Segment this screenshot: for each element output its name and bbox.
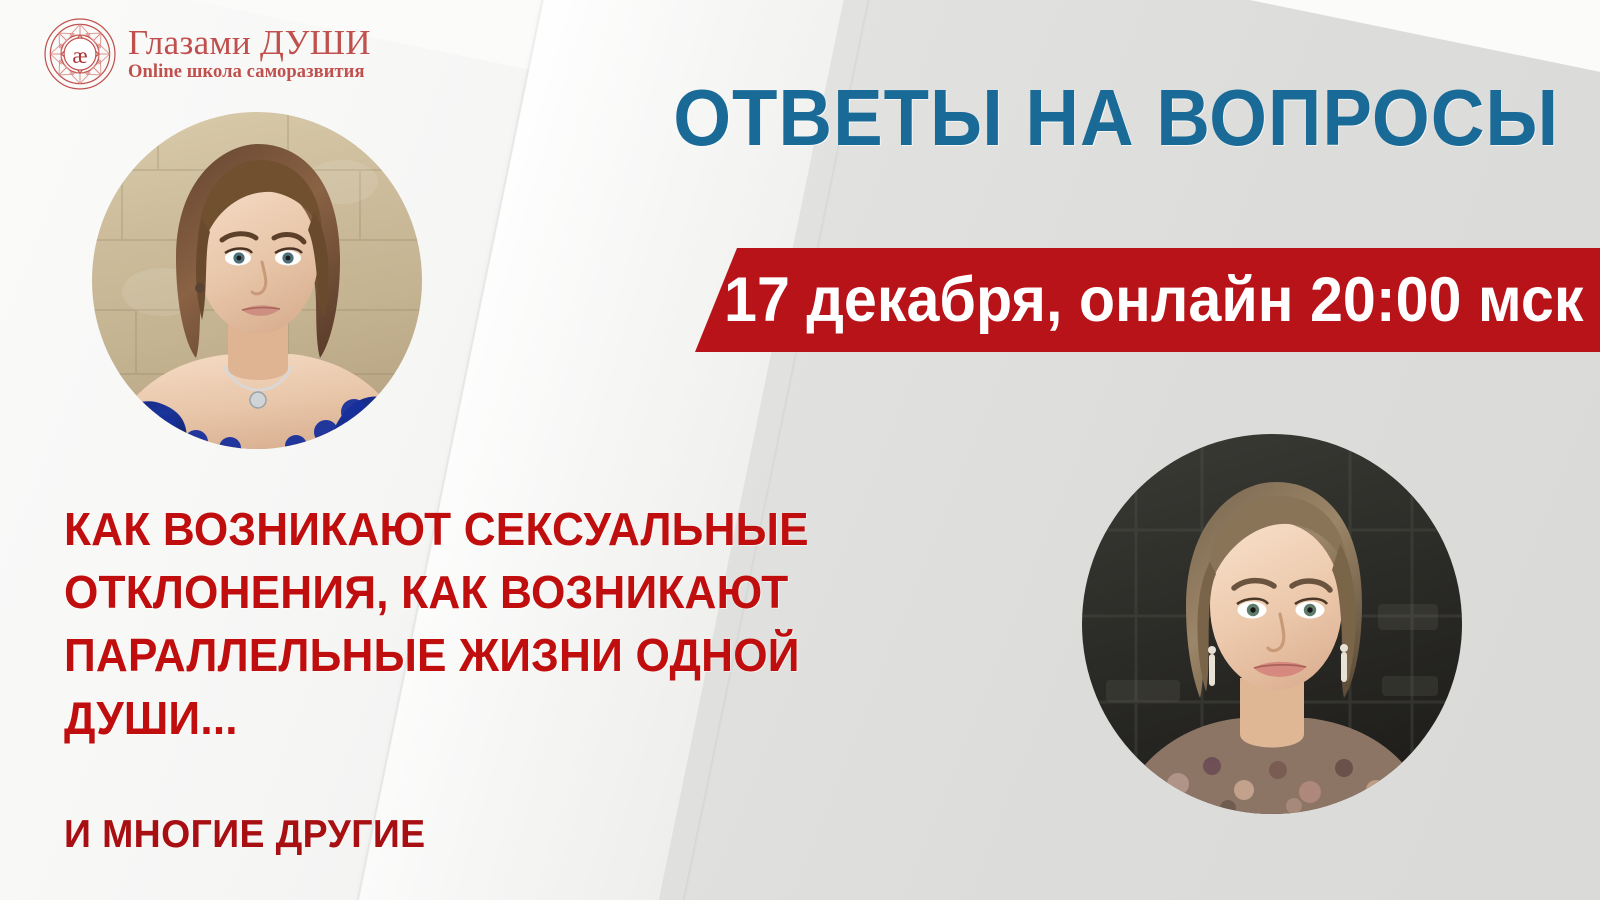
topic-line: КАК ВОЗНИКАЮТ СЕКСУАЛЬНЫЕ	[64, 498, 803, 561]
event-date-text: 17 декабря, онлайн 20:00 мск	[711, 264, 1584, 336]
topic-line: ДУШИ...	[64, 687, 803, 750]
event-date-banner: 17 декабря, онлайн 20:00 мск	[695, 248, 1600, 352]
topics-footer: И МНОГИЕ ДРУГИЕ	[64, 812, 425, 859]
topic-line: ПАРАЛЛЕЛЬНЫЕ ЖИЗНИ ОДНОЙ	[64, 624, 803, 687]
avatar-presenter-secondary	[1082, 434, 1462, 814]
brand-title: Глазами ДУШИ	[128, 25, 371, 60]
topic-line: ОТКЛОНЕНИЯ, КАК ВОЗНИКАЮТ	[64, 561, 803, 624]
promo-poster: æ Глазами ДУШИ Online школа саморазвития…	[0, 0, 1600, 900]
svg-text:æ: æ	[72, 43, 87, 68]
avatar-presenter-primary	[92, 112, 422, 449]
topic-list: КАК ВОЗНИКАЮТ СЕКСУАЛЬНЫЕ ОТКЛОНЕНИЯ, КА…	[64, 498, 834, 750]
page-title: ОТВЕТЫ НА ВОПРОСЫ	[673, 78, 1557, 158]
brand-subtitle: Online школа саморазвития	[128, 63, 371, 82]
mandala-ae-icon: æ	[42, 16, 118, 92]
brand-logo[interactable]: æ Глазами ДУШИ Online школа саморазвития	[42, 16, 371, 92]
